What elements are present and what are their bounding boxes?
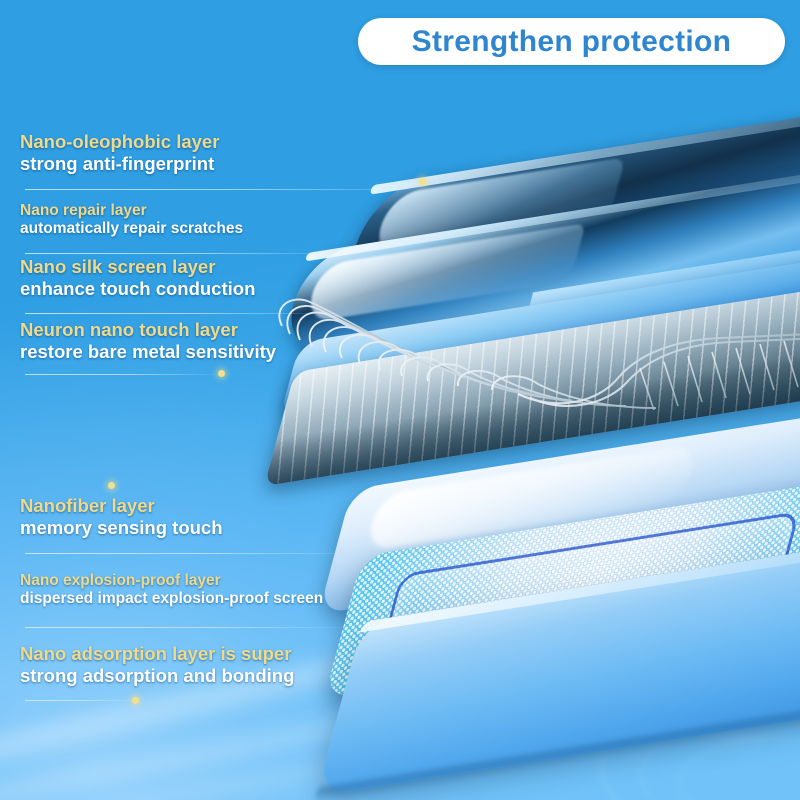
poster-canvas: Strengthen protection Nano-oleophobic la… [0, 0, 800, 800]
callout-heading: Nano silk screen layer [20, 256, 255, 278]
mesh-hatch [264, 282, 800, 486]
callout-heading: Nano adsorption layer is super [20, 643, 294, 665]
bg-streak [0, 692, 477, 800]
film-layer-explosion-proof [324, 476, 800, 699]
callout-nano-repair: Nano repair layer automatically repair s… [20, 202, 243, 239]
callout-marker-dot [132, 697, 139, 704]
callout-divider [25, 700, 135, 701]
honeycomb-band [378, 511, 799, 658]
honeycomb-pattern [324, 476, 800, 699]
callout-marker-dot [108, 482, 115, 489]
bg-ripple [640, 715, 800, 800]
film-layer-repair [280, 165, 800, 356]
callout-divider [25, 313, 335, 314]
callout-heading: Nano repair layer [20, 202, 243, 220]
film-edge [305, 165, 800, 261]
film-gloss [372, 157, 626, 260]
callout-subtitle: enhance touch conduction [20, 278, 255, 300]
callout-nano-silk-screen: Nano silk screen layer enhance touch con… [20, 256, 255, 300]
callout-divider [25, 374, 220, 375]
bg-ripple [600, 690, 800, 800]
callout-nano-adsorption: Nano adsorption layer is super strong ad… [20, 643, 294, 687]
callout-subtitle: strong anti-fingerprint [20, 153, 219, 175]
callout-subtitle: memory sensing touch [20, 517, 223, 539]
callout-divider [25, 627, 355, 628]
film-shade [264, 348, 800, 486]
film-gloss [304, 223, 585, 323]
callout-heading: Nano explosion-proof layer [20, 572, 323, 590]
callout-marker-dot [218, 370, 225, 377]
callout-subtitle: automatically repair scratches [20, 220, 243, 238]
film-sheen [365, 444, 699, 552]
bg-streak [472, 669, 768, 745]
film-layer-adsorption [316, 541, 800, 797]
bg-streak [22, 729, 538, 800]
film-layer-oleophobic [338, 104, 800, 312]
callout-divider [25, 553, 365, 554]
film-layer-oleophobic-tail [549, 170, 800, 314]
film-undershadow [314, 707, 800, 800]
callout-divider [25, 189, 425, 190]
callout-neuron-nano-touch: Neuron nano touch layer restore bare met… [20, 319, 276, 363]
neuron-wire-illustration [268, 282, 800, 412]
callout-heading: Nano-oleophobic layer [20, 131, 219, 153]
page-title: Strengthen protection [412, 27, 732, 57]
callout-subtitle: strong adsorption and bonding [20, 665, 294, 687]
callout-subtitle: restore bare metal sensitivity [20, 341, 276, 363]
film-layer-silk-screen [279, 254, 800, 421]
callout-heading: Nanofiber layer [20, 495, 223, 517]
bg-ripple [678, 738, 800, 800]
callout-nanofiber: Nanofiber layer memory sensing touch [20, 495, 223, 539]
film-edge [370, 104, 800, 195]
callout-heading: Neuron nano touch layer [20, 319, 276, 341]
title-banner: Strengthen protection [358, 18, 785, 65]
callout-subtitle: dispersed impact explosion-proof screen [20, 590, 323, 608]
callout-marker-dot [419, 178, 426, 185]
film-layer-nanofiber [318, 408, 800, 614]
film-rim [360, 541, 800, 633]
callout-divider [25, 253, 345, 254]
film-layer-repair-slab [511, 239, 800, 375]
honeycomb-pattern [324, 476, 800, 699]
callout-nano-explosion-proof: Nano explosion-proof layer dispersed imp… [20, 572, 323, 609]
callout-nano-oleophobic: Nano-oleophobic layer strong anti-finger… [20, 131, 219, 175]
film-layer-neuron-mesh [264, 282, 800, 486]
